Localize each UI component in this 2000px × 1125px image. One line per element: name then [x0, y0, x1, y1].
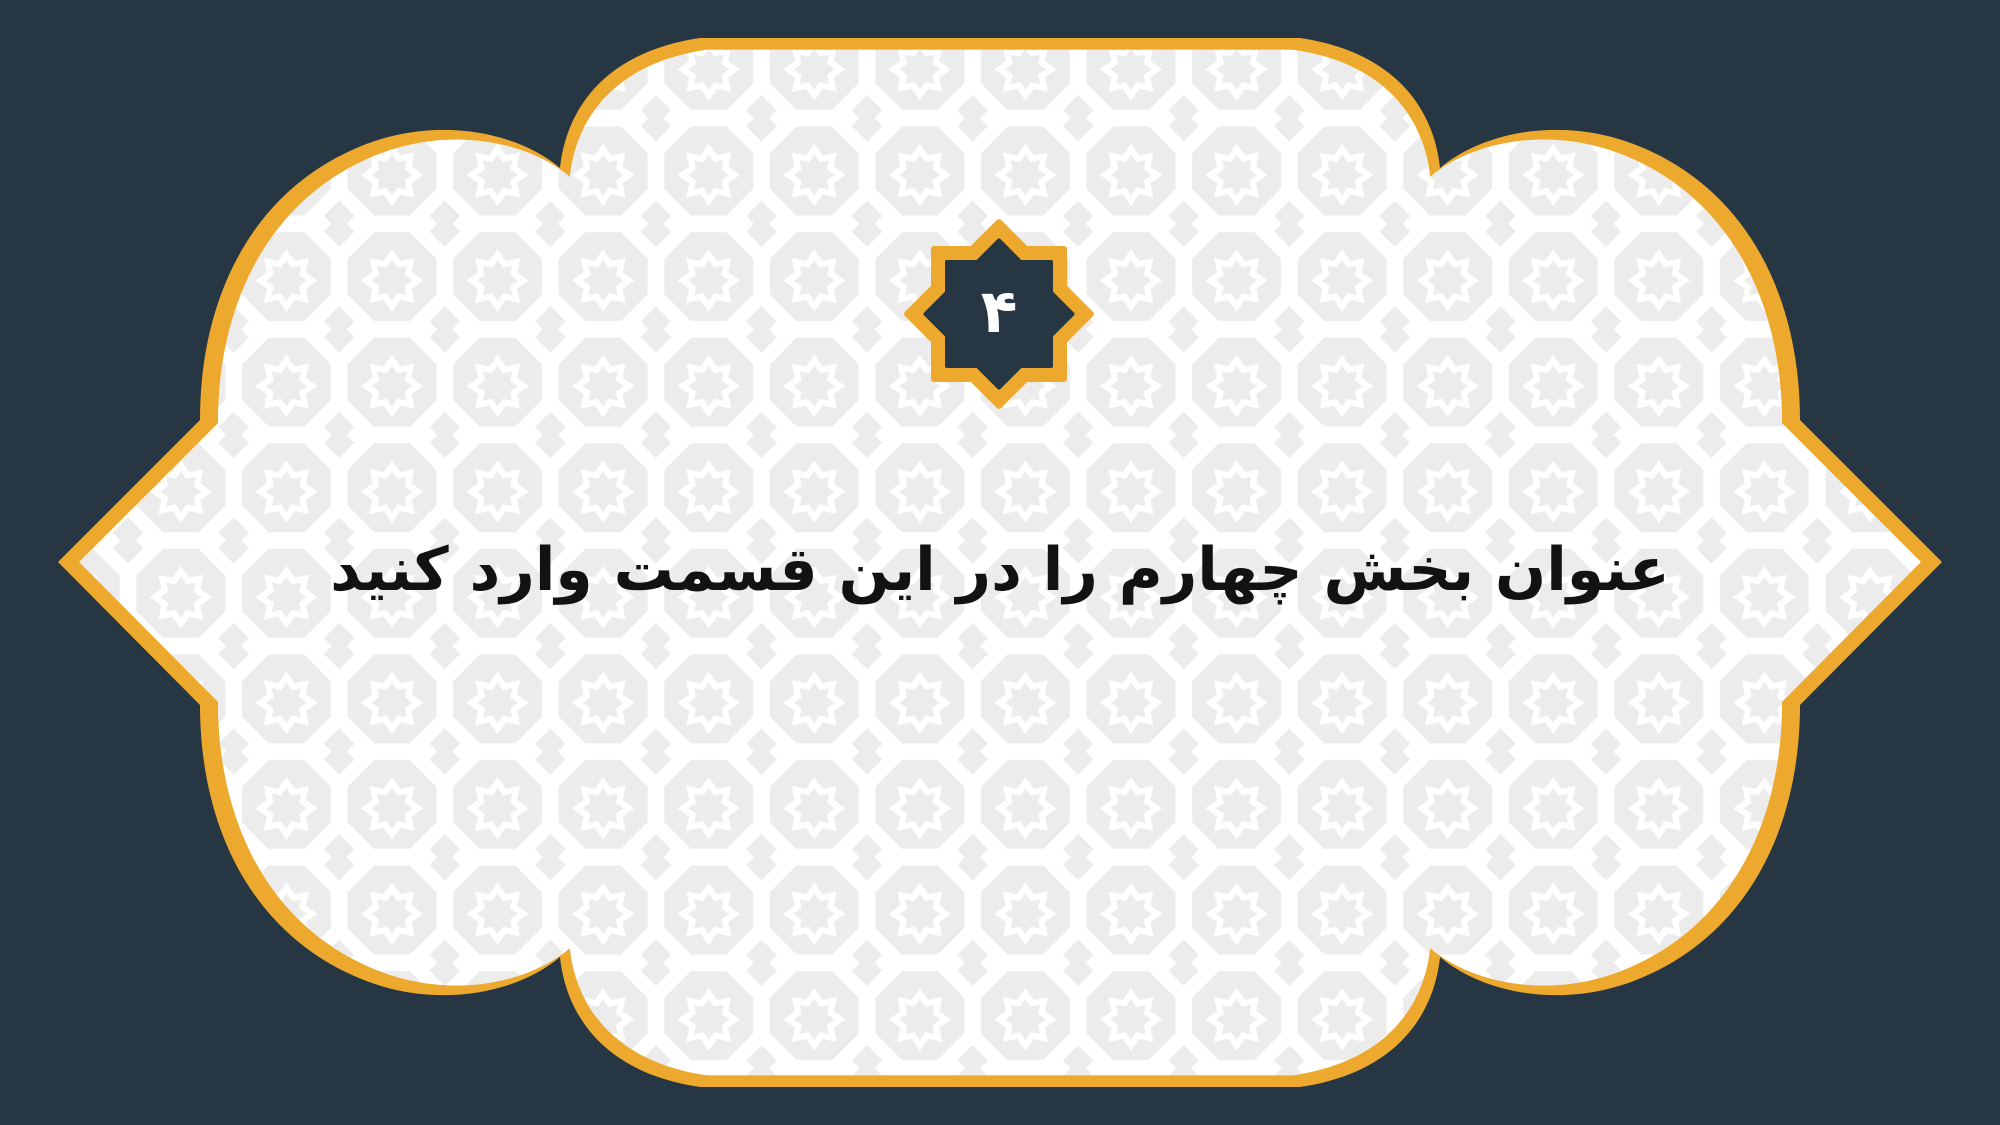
slide-canvas: ۴ عنوان بخش چهارم را در این قسمت وارد کن…: [0, 0, 2000, 1125]
section-number-badge[interactable]: ۴: [903, 218, 1095, 410]
section-title[interactable]: عنوان بخش چهارم را در این قسمت وارد کنید: [250, 530, 1750, 611]
section-number-label: ۴: [903, 218, 1095, 410]
